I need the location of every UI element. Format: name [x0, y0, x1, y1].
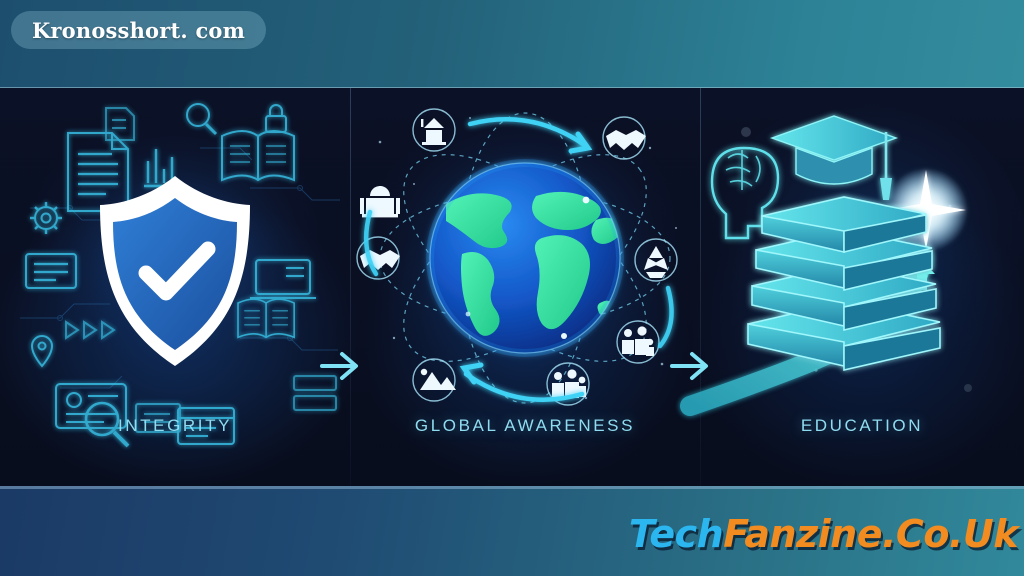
book-stack-icon — [748, 197, 940, 370]
integrity-illustration — [0, 88, 350, 428]
arrow-right-icon-2 — [668, 346, 712, 386]
education-illustration — [700, 88, 1024, 428]
panel-integrity: INTEGRITY — [0, 88, 350, 486]
infographic-stage: Kronosshort. com — [0, 0, 1024, 576]
arrow-right-icon-1 — [318, 346, 362, 386]
global-awareness-illustration — [350, 88, 700, 428]
logo-text-primary: Tech — [629, 512, 723, 556]
artwork-area: INTEGRITY — [0, 88, 1024, 486]
logo-text-secondary: Fanzine.Co.Uk — [723, 512, 1018, 556]
caption-global-awareness: GLOBAL AWARENESS — [350, 416, 700, 436]
globe-icon — [430, 163, 620, 353]
site-watermark-bottom: TechFanzine.Co.Uk — [629, 512, 1018, 556]
panel-global-awareness: GLOBAL AWARENESS — [350, 88, 700, 486]
caption-integrity: INTEGRITY — [0, 416, 350, 436]
caption-education: EDUCATION — [700, 416, 1024, 436]
site-watermark-top: Kronosshort. com — [11, 11, 266, 49]
panel-education: EDUCATION — [700, 88, 1024, 486]
lock-icon — [266, 105, 286, 132]
